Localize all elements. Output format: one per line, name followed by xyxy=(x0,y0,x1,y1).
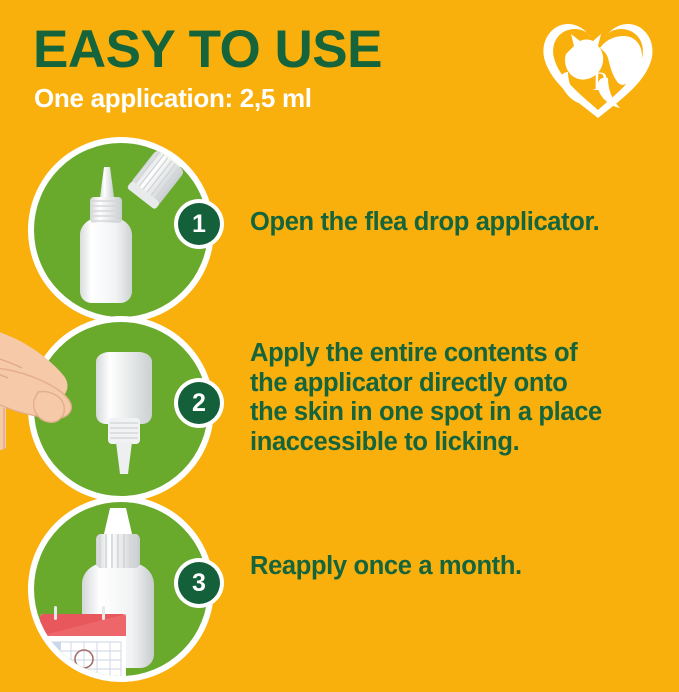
step-3-line-1: Reapply once a month. xyxy=(250,552,522,582)
svg-text:P: P xyxy=(593,67,607,96)
step-number-badge-1: 1 xyxy=(174,199,224,249)
header: EASY TO USE One application: 2,5 ml B P xyxy=(0,0,679,125)
step-row-3: 3 Reapply once a month. xyxy=(0,492,679,682)
step-number-2: 2 xyxy=(178,382,220,424)
page-title: EASY TO USE xyxy=(33,22,382,78)
step-row-2: 2 Apply the entire contents of the appli… xyxy=(0,312,679,502)
step-2-text: Apply the entire contents of the applica… xyxy=(250,339,602,457)
step-number-3: 3 xyxy=(178,562,220,604)
page-subtitle: One application: 2,5 ml xyxy=(34,83,312,113)
step-number-1: 1 xyxy=(178,203,220,245)
step-3-illustration: 3 xyxy=(28,496,224,692)
step-2-line-2: the applicator directly onto xyxy=(250,369,602,399)
step-2-line-4: inaccessible to licking. xyxy=(250,428,602,458)
step-2-line-1: Apply the entire contents of xyxy=(250,339,602,369)
step-number-badge-2: 2 xyxy=(174,378,224,428)
step-1-text: Open the flea drop applicator. xyxy=(250,208,599,238)
step-2-illustration: 2 xyxy=(28,316,224,512)
cat-dog-heart-logo: B P xyxy=(538,14,658,122)
hand-illustration xyxy=(0,308,158,518)
step-number-badge-3: 3 xyxy=(174,558,224,608)
step-1-line-1: Open the flea drop applicator. xyxy=(250,208,599,238)
step-3-text: Reapply once a month. xyxy=(250,552,522,582)
step-2-line-3: the skin in one spot in a place xyxy=(250,398,602,428)
step-1-illustration: 1 xyxy=(28,137,224,333)
infographic-page: EASY TO USE One application: 2,5 ml B P xyxy=(0,0,679,679)
